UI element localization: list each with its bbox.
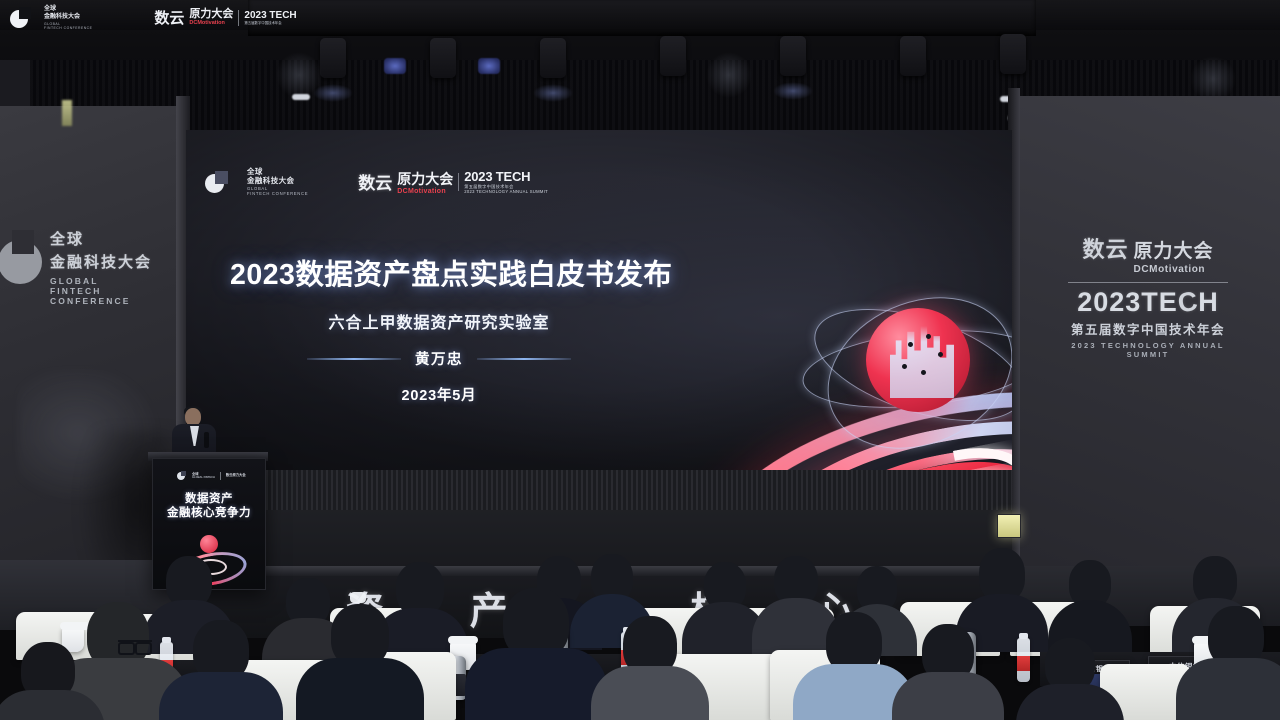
- slide-swirl-artwork: [684, 308, 1012, 470]
- stage-light: [320, 38, 346, 78]
- wall-right-divider: [1068, 282, 1228, 283]
- stage-light: [660, 36, 686, 76]
- audience-member-foreground: [600, 616, 700, 720]
- audience-member-foreground: [1186, 606, 1280, 720]
- overlay-fintech-en2: FINTECH CONFERENCE: [44, 26, 92, 30]
- speaker-microphone-icon: [204, 432, 209, 448]
- overlay-dcmotivation: DCMotivation: [189, 20, 233, 27]
- wall-left-signage: 全球 金融科技大会 GLOBAL FINTECH CONFERENCE: [12, 228, 176, 306]
- stage-light: [540, 38, 566, 78]
- podium-logo-en: GLOBAL FINTECH: [192, 476, 215, 479]
- slide-fintech-cn2: 金融科技大会: [247, 176, 308, 185]
- data-sphere-icon: [866, 308, 970, 412]
- swirl-ring-outer: [688, 354, 1012, 470]
- lighting-truss: [248, 0, 1036, 36]
- overlay-cn-sub: 第五届数字中国技术年会: [244, 21, 296, 25]
- overlay-divider: [238, 10, 239, 26]
- overlay-dcmotivation-logo: 数云 原力大会 DCMotivation 2023 TECH 第五届数字中国技术…: [154, 7, 296, 28]
- audience-member-foreground: [1024, 638, 1116, 720]
- audience-member-foreground: [168, 620, 274, 720]
- wall-right-yuanli: 原力大会: [1134, 236, 1214, 263]
- broadcast-overlay-bug: 全球 金融科技大会 GLOBAL FINTECH CONFERENCE 数云 原…: [10, 6, 297, 30]
- wall-strip-light: [62, 100, 72, 126]
- slide-fintech-cn1: 全球: [247, 167, 308, 176]
- podium-logo-divider: [220, 472, 221, 480]
- eyeglasses-icon: [118, 640, 152, 651]
- slide-speaker-row: 黄万忠: [230, 348, 648, 369]
- slide-title: 2023数据资产盘点实践白皮书发布: [230, 252, 648, 293]
- audience-member-foreground: [0, 642, 96, 720]
- swirl-ring-mid: [744, 392, 1012, 470]
- fintech-logo-mark: [10, 7, 34, 29]
- fintech-logo-mark: [205, 171, 231, 193]
- slide-dcmotivation: DCMotivation: [397, 188, 453, 195]
- wall-right-signage: 数云 原力大会 DCMotivation 2023TECH 第五届数字中国技术年…: [1062, 232, 1234, 359]
- slide-logo-bar: 全球 金融科技大会 GLOBAL FINTECH CONFERENCE 数云 原…: [205, 167, 548, 197]
- fintech-logo-mark: [177, 471, 187, 480]
- wall-left-cn1: 全球: [50, 228, 176, 249]
- overlay-fintech-text: 全球 金融科技大会 GLOBAL FINTECH CONFERENCE: [44, 6, 92, 30]
- ceiling-panel-right: [1036, 0, 1280, 30]
- swirl-ring-inner: [804, 429, 1012, 470]
- audience-area: 中国进出口银行 中信银行 中信银行: [0, 556, 1280, 720]
- slide-sub-line2: 2023 TECHNOLOGY ANNUAL SUMMIT: [464, 189, 548, 195]
- fintech-logo-mark: [0, 230, 44, 288]
- wall-left-en1: GLOBAL: [50, 276, 176, 286]
- orbit-ring: [799, 320, 1012, 418]
- slide-dcmotivation-logo: 数云 原力大会 DCMotivation 2023 TECH 第五届数字中国技术…: [358, 169, 548, 195]
- light-halo: [706, 52, 752, 98]
- audience-member-foreground: [900, 624, 996, 720]
- audience-member-foreground: [802, 612, 906, 720]
- slide-fintech-text: 全球 金融科技大会 GLOBAL FINTECH CONFERENCE: [247, 167, 308, 197]
- wall-right-en-sub: 2023 TECHNOLOGY ANNUAL SUMMIT: [1062, 341, 1234, 359]
- slide-fintech-en2: FINTECH CONFERENCE: [247, 191, 308, 196]
- slide-rule-right: [477, 358, 571, 360]
- slide-year-tech: 2023 TECH: [464, 169, 548, 184]
- slide-yuanli: 原力大会: [397, 169, 453, 189]
- face-mask: [350, 592, 366, 603]
- stage-light: [900, 36, 926, 76]
- podium-line2: 金融核心竞争力: [153, 504, 265, 520]
- slide-speaker-name: 黄万忠: [415, 348, 463, 369]
- overlay-fintech-cn2: 金融科技大会: [44, 14, 92, 22]
- wall-right-tech-pre: TE: [1141, 287, 1178, 317]
- stage-light-blue: [478, 58, 500, 74]
- podium-logo-right: 数云原力大会: [226, 473, 246, 477]
- light-halo: [276, 52, 322, 98]
- slide-rule-left: [307, 358, 401, 360]
- wall-left-en2: FINTECH CONFERENCE: [50, 286, 176, 306]
- audience-member-foreground: [306, 604, 414, 720]
- slide-text-block: 2023数据资产盘点实践白皮书发布 六合上甲数据资产研究实验室 黄万忠 2023…: [230, 252, 648, 405]
- overlay-shuyun: 数云: [154, 7, 184, 28]
- slide-shuyun: 数云: [358, 169, 392, 194]
- wall-exit-light: [997, 514, 1021, 538]
- overlay-fintech-cn1: 全球: [44, 6, 92, 14]
- swirl-core: [837, 423, 1012, 470]
- wall-left-cn2: 金融科技大会: [50, 251, 176, 272]
- wall-right-cn-sub: 第五届数字中国技术年会: [1062, 319, 1234, 338]
- slide-organization: 六合上甲数据资产研究实验室: [230, 309, 648, 333]
- stage-light: [1000, 34, 1026, 74]
- audience-member-foreground: [476, 588, 596, 720]
- orbit-ring: [801, 287, 1012, 444]
- stage-light: [430, 38, 456, 78]
- stage-led-grille: [186, 470, 1012, 510]
- wall-right-dcmotivation: DCMotivation: [1134, 264, 1206, 275]
- conference-stage-screenshot: 全球 金融科技大会 GLOBAL FINTECH CONFERENCE 数云 原…: [0, 0, 1280, 720]
- wall-right-tech-post: H: [1198, 287, 1219, 317]
- wall-right-shuyun: 数云: [1082, 232, 1128, 264]
- slide-date: 2023年5月: [230, 384, 648, 405]
- slide-logo-divider: [458, 173, 459, 191]
- orbit-ring: [803, 269, 1012, 470]
- light-beam: [292, 94, 310, 100]
- overlay-year-tech: 2023 TECH: [244, 11, 296, 21]
- stage-light: [780, 36, 806, 76]
- overlay-yuanli: 原力大会: [189, 9, 233, 20]
- stage-light-blue: [384, 58, 406, 74]
- wall-right-tech-swirl-icon: C: [1176, 288, 1200, 318]
- podium-logo-row: 全球 GLOBAL FINTECH 数云原力大会: [177, 471, 246, 480]
- wall-right-year: 2023: [1077, 287, 1141, 317]
